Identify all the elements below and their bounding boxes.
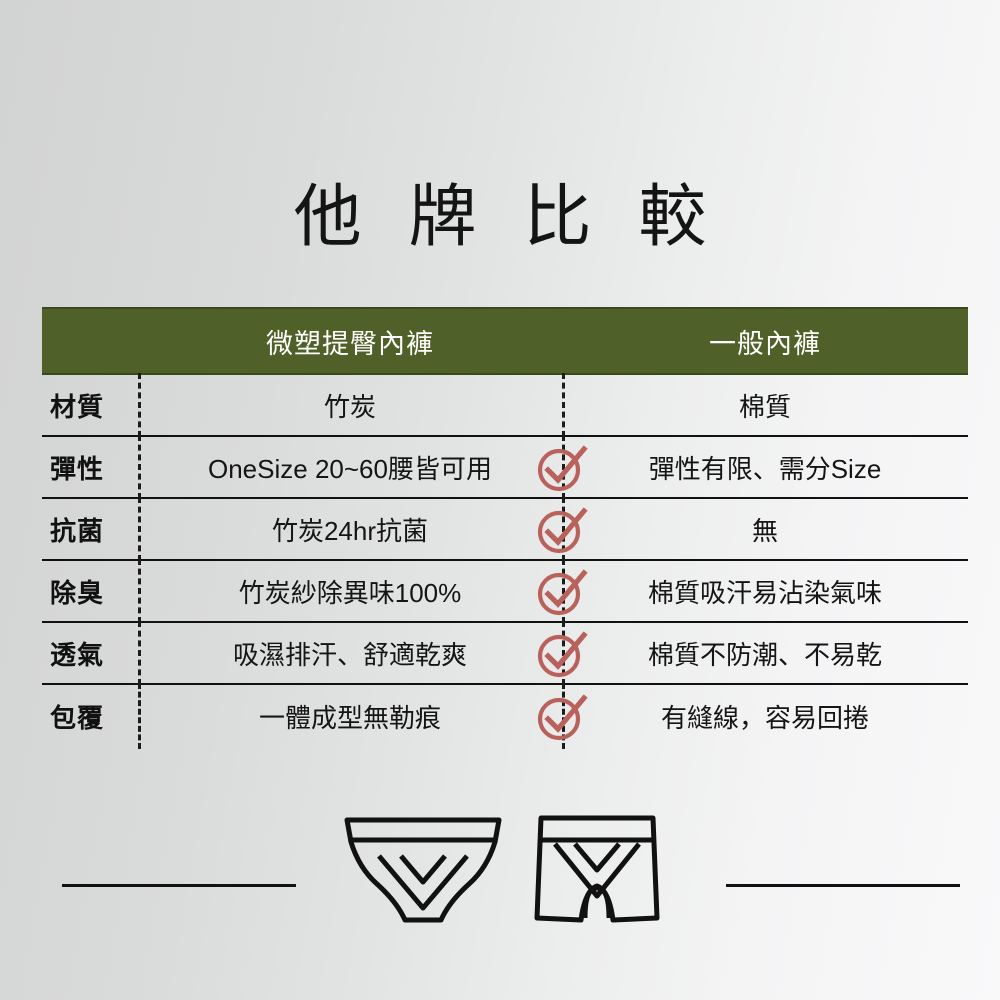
row-value-col-b: 彈性有限、需分Size xyxy=(562,449,968,486)
row-value-col-b: 無 xyxy=(562,511,968,548)
row-label: 除臭 xyxy=(42,573,138,610)
table-header-col-a: 微塑提臀內褲 xyxy=(138,322,562,361)
table-header-col-b: 一般內褲 xyxy=(562,322,968,361)
column-divider-1 xyxy=(138,373,141,437)
row-value-col-b: 有縫線，容易回捲 xyxy=(562,698,968,735)
column-divider-2 xyxy=(562,683,565,749)
product-illustrations xyxy=(0,812,1000,933)
column-divider-1 xyxy=(138,683,141,749)
comparison-table: 微塑提臀內褲 一般內褲 材質 竹炭 棉質 彈性 OneSize 20~60腰皆可… xyxy=(42,307,968,747)
row-value-col-a: OneSize 20~60腰皆可用 xyxy=(138,449,562,486)
row-value-col-a: 一體成型無勒痕 xyxy=(138,698,562,735)
row-value-col-b: 棉質不防潮、不易乾 xyxy=(562,635,968,672)
table-row: 材質 竹炭 棉質 xyxy=(42,375,968,437)
column-divider-2 xyxy=(562,497,565,561)
row-value-col-b: 棉質吸汗易沾染氣味 xyxy=(562,573,968,610)
table-row: 彈性 OneSize 20~60腰皆可用 彈性有限、需分Size xyxy=(42,437,968,499)
briefs-icon xyxy=(337,812,509,933)
column-divider-1 xyxy=(138,621,141,685)
table-header-row: 微塑提臀內褲 一般內褲 xyxy=(42,307,968,375)
column-divider-2 xyxy=(562,621,565,685)
row-label: 包覆 xyxy=(42,698,138,735)
row-label: 透氣 xyxy=(42,635,138,672)
row-value-col-a: 竹炭 xyxy=(138,387,562,424)
row-label: 彈性 xyxy=(42,449,138,486)
table-row: 抗菌 竹炭24hr抗菌 無 xyxy=(42,499,968,561)
column-divider-2 xyxy=(562,559,565,623)
column-divider-2 xyxy=(562,435,565,499)
table-row: 包覆 一體成型無勒痕 有縫線，容易回捲 xyxy=(42,685,968,747)
row-value-col-b: 棉質 xyxy=(562,387,968,424)
column-divider-1 xyxy=(138,559,141,623)
table-row: 除臭 竹炭紗除異味100% 棉質吸汗易沾染氣味 xyxy=(42,561,968,623)
table-row: 透氣 吸濕排汗、舒適乾爽 棉質不防潮、不易乾 xyxy=(42,623,968,685)
column-divider-1 xyxy=(138,497,141,561)
divider-rule-left xyxy=(62,884,296,887)
row-value-col-a: 竹炭24hr抗菌 xyxy=(138,511,562,548)
row-value-col-a: 竹炭紗除異味100% xyxy=(138,573,562,610)
page-title: 他 牌 比 較 xyxy=(0,183,1000,251)
divider-rule-right xyxy=(726,884,960,887)
column-divider-2 xyxy=(562,373,565,437)
row-label: 抗菌 xyxy=(42,511,138,548)
boxer-briefs-icon xyxy=(531,812,663,933)
comparison-infographic: 他 牌 比 較 微塑提臀內褲 一般內褲 材質 竹炭 棉質 彈性 OneSize … xyxy=(0,0,1000,1000)
row-value-col-a: 吸濕排汗、舒適乾爽 xyxy=(138,635,562,672)
column-divider-1 xyxy=(138,435,141,499)
row-label: 材質 xyxy=(42,387,138,424)
